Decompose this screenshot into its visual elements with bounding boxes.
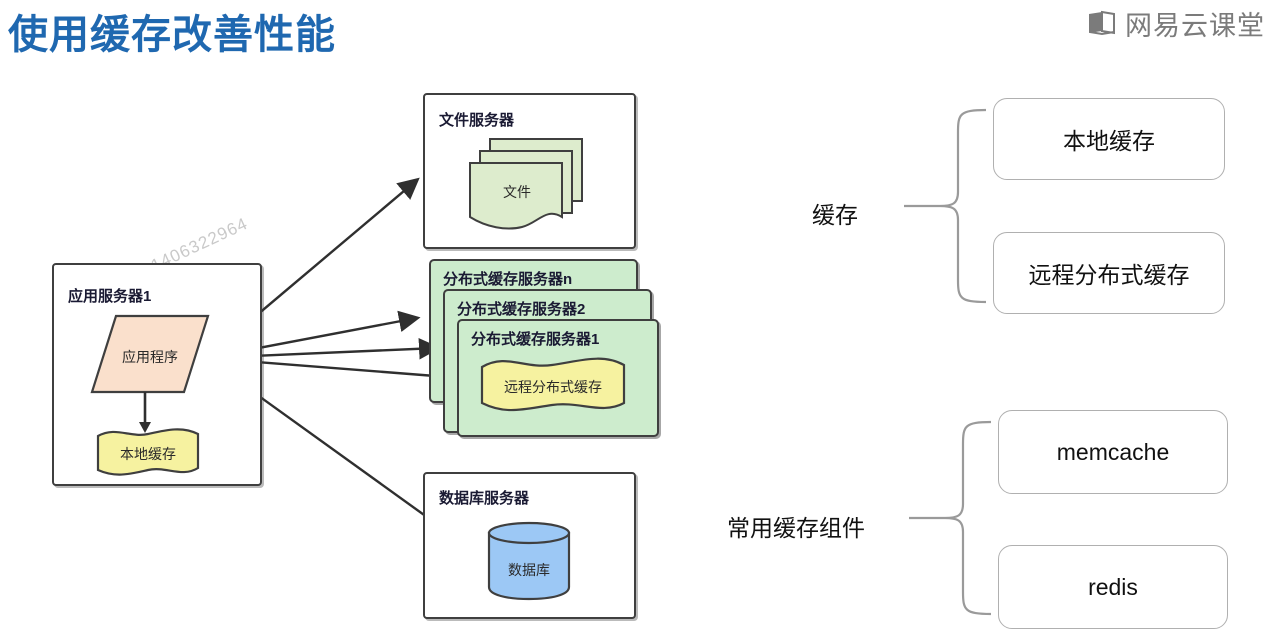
- brand-logo: 网易云课堂: [1087, 4, 1265, 43]
- component-item-redis[interactable]: redis: [998, 545, 1228, 629]
- db-server-title: 数据库服务器: [439, 487, 529, 508]
- cache-item-remote[interactable]: 远程分布式缓存: [993, 232, 1225, 314]
- cache-server-title-2: 分布式缓存服务器2: [457, 298, 585, 319]
- app-server-title: 应用服务器1: [68, 285, 151, 306]
- database-label: 数据库: [487, 560, 571, 580]
- component-item-redis-label: redis: [1088, 574, 1138, 601]
- component-item-memcache-label: memcache: [1057, 439, 1169, 466]
- cache-server-title-n: 分布式缓存服务器n: [443, 268, 572, 289]
- cache-item-local-label: 本地缓存: [1063, 122, 1155, 156]
- component-item-memcache[interactable]: memcache: [998, 410, 1228, 494]
- file-label: 文件: [470, 182, 564, 202]
- remote-cache-label: 远程分布式缓存: [480, 377, 626, 397]
- file-server-title: 文件服务器: [439, 109, 514, 130]
- group-label-components: 常用缓存组件: [727, 509, 865, 543]
- brace-cache: [900, 106, 986, 306]
- brand-name: 网易云课堂: [1125, 4, 1265, 43]
- group-label-cache: 缓存: [812, 196, 858, 230]
- brace-components: [905, 418, 991, 618]
- local-cache-label: 本地缓存: [96, 444, 200, 464]
- page-title: 使用缓存改善性能: [8, 2, 336, 60]
- book-icon: [1087, 11, 1117, 37]
- cache-server-title-1: 分布式缓存服务器1: [471, 328, 599, 349]
- cache-item-remote-label: 远程分布式缓存: [1029, 256, 1190, 290]
- application-program-label: 应用程序: [90, 347, 210, 367]
- cache-item-local[interactable]: 本地缓存: [993, 98, 1225, 180]
